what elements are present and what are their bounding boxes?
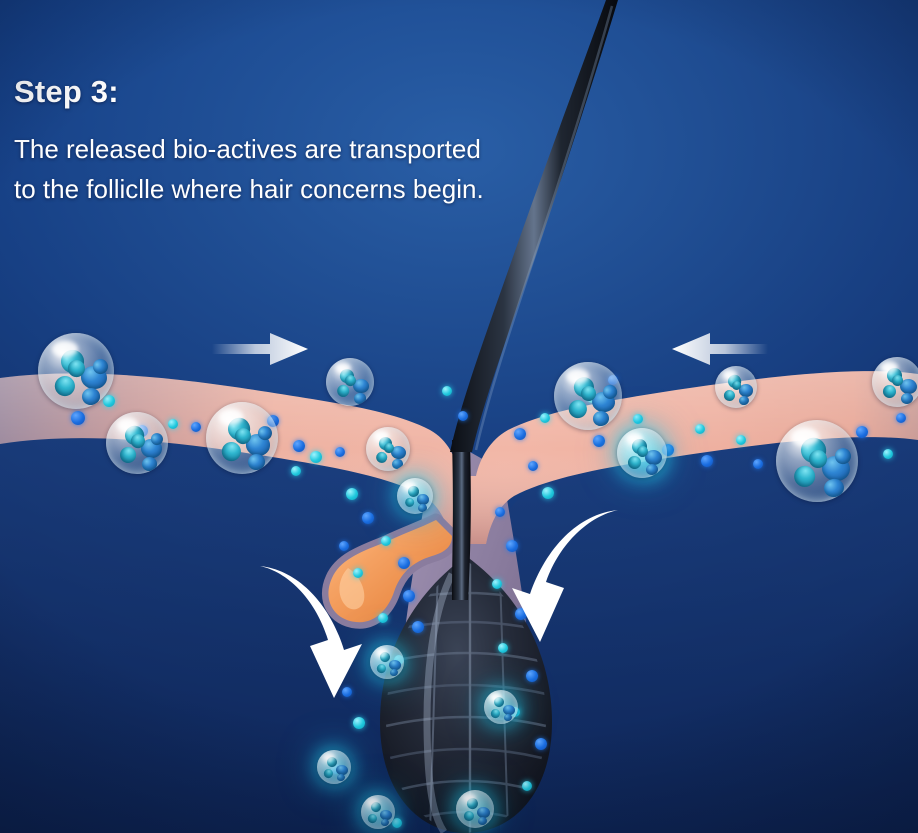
bioactive-particle xyxy=(495,507,505,517)
vesicle-shell xyxy=(776,420,858,502)
liposome-vesicle xyxy=(872,357,918,407)
bioactive-particle xyxy=(514,428,526,440)
vesicle-shell xyxy=(617,428,667,478)
liposome-vesicle xyxy=(484,690,518,724)
vesicle-shell xyxy=(456,790,494,828)
liposome-vesicle xyxy=(554,362,622,430)
liposome-vesicle xyxy=(106,412,168,474)
bioactive-particle xyxy=(398,557,410,569)
bioactive-droplet xyxy=(367,812,379,824)
bioactive-particle xyxy=(412,621,424,633)
liposome-vesicle xyxy=(317,750,351,784)
curved-arrow-right-shape xyxy=(512,510,618,642)
bioactive-particle xyxy=(442,386,452,396)
bioactive-particle xyxy=(458,411,468,421)
bioactive-particle xyxy=(103,395,115,407)
bioactive-particle xyxy=(403,590,415,602)
bioactive-particle xyxy=(378,613,388,623)
bioactive-droplet xyxy=(490,707,502,719)
bioactive-particle xyxy=(492,579,502,589)
bioactive-particle xyxy=(883,449,893,459)
vesicle-shell xyxy=(317,750,351,784)
vesicle-shell xyxy=(361,795,395,829)
arrow-right-surface-icon xyxy=(212,331,308,367)
liposome-vesicle xyxy=(617,428,667,478)
vesicle-shell xyxy=(715,366,757,408)
liposome-vesicle xyxy=(38,333,114,409)
bioactive-particle xyxy=(593,435,605,447)
bioactive-particle xyxy=(71,411,85,425)
caption-block: Step 3: The released bio-actives are tra… xyxy=(14,76,484,209)
liposome-vesicle xyxy=(326,358,374,406)
bioactive-particle xyxy=(856,426,868,438)
bioactive-particle xyxy=(633,414,643,424)
bioactive-particle xyxy=(540,413,550,423)
bioactive-particle xyxy=(526,670,538,682)
bioactive-particle xyxy=(346,488,358,500)
bioactive-particle xyxy=(168,419,178,429)
bioactive-droplet xyxy=(391,458,403,469)
bioactive-particle xyxy=(353,717,365,729)
liposome-vesicle xyxy=(366,427,410,471)
bioactive-particle xyxy=(335,447,345,457)
bioactive-particle xyxy=(528,461,538,471)
bioactive-particle xyxy=(498,643,508,653)
bioactive-particle xyxy=(701,455,713,467)
bioactive-particle xyxy=(291,466,301,476)
bioactive-particle xyxy=(381,536,391,546)
vesicle-shell xyxy=(484,690,518,724)
bioactive-particle xyxy=(736,435,746,445)
arrow-left-surface-icon xyxy=(672,331,768,367)
vesicle-shell xyxy=(326,358,374,406)
bioactive-droplet xyxy=(323,767,335,779)
vesicle-shell xyxy=(872,357,918,407)
bioactive-droplet xyxy=(353,392,366,404)
bioactive-particle xyxy=(753,459,763,469)
liposome-vesicle xyxy=(715,366,757,408)
bioactive-particle xyxy=(310,451,322,463)
step-heading: Step 3: xyxy=(14,76,484,107)
vesicle-shell xyxy=(206,402,278,474)
bioactive-particle xyxy=(362,512,374,524)
curved-arrow-left-shape xyxy=(260,566,362,698)
bioactive-particle xyxy=(392,818,402,828)
arrow-curved-down-left-icon xyxy=(258,548,378,706)
step-description: The released bio-actives are transported… xyxy=(14,129,484,209)
arrow-curved-down-right-icon xyxy=(508,500,620,648)
liposome-vesicle xyxy=(361,795,395,829)
bioactive-particle xyxy=(522,781,532,791)
bioactive-droplet xyxy=(403,496,416,509)
bioactive-particle xyxy=(896,413,906,423)
vesicle-shell xyxy=(397,478,433,514)
arrow-right-shape xyxy=(212,333,308,365)
bioactive-particle xyxy=(695,424,705,434)
vesicle-shell xyxy=(38,333,114,409)
bioactive-droplet xyxy=(462,809,476,823)
liposome-vesicle xyxy=(206,402,278,474)
vesicle-shell xyxy=(366,427,410,471)
bioactive-particle xyxy=(535,738,547,750)
bioactive-particle xyxy=(542,487,554,499)
bioactive-particle xyxy=(191,422,201,432)
arrow-left-shape xyxy=(672,333,768,365)
illustration-canvas: Step 3: The released bio-actives are tra… xyxy=(0,0,918,833)
liposome-vesicle xyxy=(456,790,494,828)
bioactive-particle xyxy=(293,440,305,452)
liposome-vesicle xyxy=(776,420,858,502)
vesicle-shell xyxy=(554,362,622,430)
vesicle-shell xyxy=(106,412,168,474)
liposome-vesicle xyxy=(397,478,433,514)
